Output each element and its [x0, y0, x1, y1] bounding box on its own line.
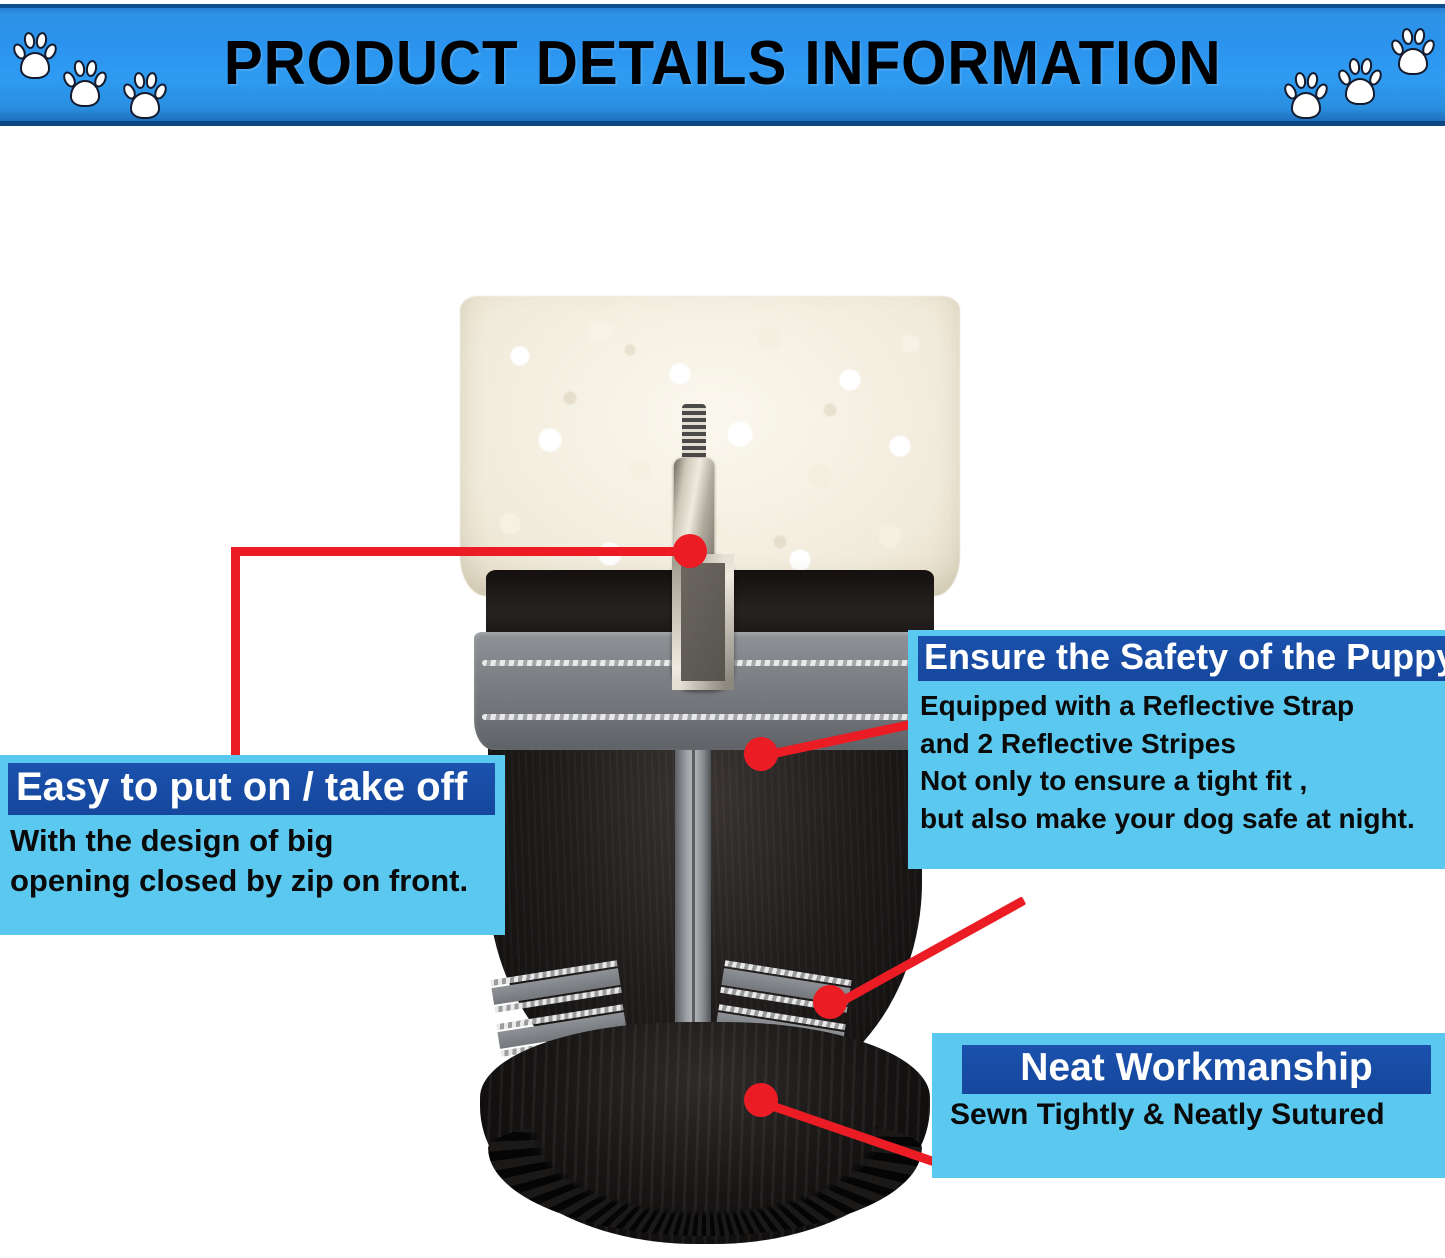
callout-bottom-heading: Neat Workmanship: [962, 1045, 1431, 1094]
callout-left-line: opening closed by zip on front.: [10, 861, 495, 901]
page-title-text: PRODUCT DETAILS INFORMATION: [224, 28, 1222, 99]
callout-dot-zipper: [673, 534, 707, 568]
callout-dot-stripe: [813, 985, 847, 1019]
leader-line-zipper-vertical: [231, 547, 240, 762]
header-banner: PRODUCT DETAILS INFORMATION: [0, 4, 1445, 126]
leader-line-zipper: [231, 547, 693, 556]
callout-neat-workmanship: Neat Workmanship Sewn Tightly & Neatly S…: [932, 1033, 1445, 1178]
strap-stitching-bottom: [482, 714, 928, 720]
callout-left-heading: Easy to put on / take off: [8, 763, 495, 815]
callout-right-line: Equipped with a Reflective Strap: [920, 687, 1437, 725]
callout-right-line: and 2 Reflective Stripes: [920, 725, 1437, 763]
callout-left-body: With the design of big opening closed by…: [0, 815, 505, 900]
dog-boot-photo: [430, 280, 970, 1258]
callout-easy-to-put-on: Easy to put on / take off With the desig…: [0, 755, 505, 935]
callout-right-line: but also make your dog safe at night.: [920, 800, 1437, 838]
callout-bottom-line: Sewn Tightly & Neatly Sutured: [950, 1098, 1439, 1131]
zipper-pull: [668, 458, 720, 678]
callout-ensure-safety: Ensure the Safety of the Puppy Equipped …: [908, 630, 1445, 869]
callout-dot-strap: [744, 737, 778, 771]
callout-dot-stitching: [744, 1083, 778, 1117]
callout-right-heading: Ensure the Safety of the Puppy: [918, 636, 1445, 681]
paw-print-icon: [1283, 70, 1329, 122]
paw-print-icon: [1337, 56, 1383, 108]
zipper-ring: [672, 554, 734, 690]
page-title: PRODUCT DETAILS INFORMATION: [0, 28, 1445, 99]
paw-print-icon: [1390, 26, 1436, 78]
callout-left-line: With the design of big: [10, 821, 495, 861]
callout-right-line: Not only to ensure a tight fit ,: [920, 762, 1437, 800]
callout-right-body: Equipped with a Reflective Strap and 2 R…: [908, 681, 1445, 837]
callout-bottom-body: Sewn Tightly & Neatly Sutured: [932, 1094, 1445, 1131]
zipper-teeth: [682, 404, 706, 464]
